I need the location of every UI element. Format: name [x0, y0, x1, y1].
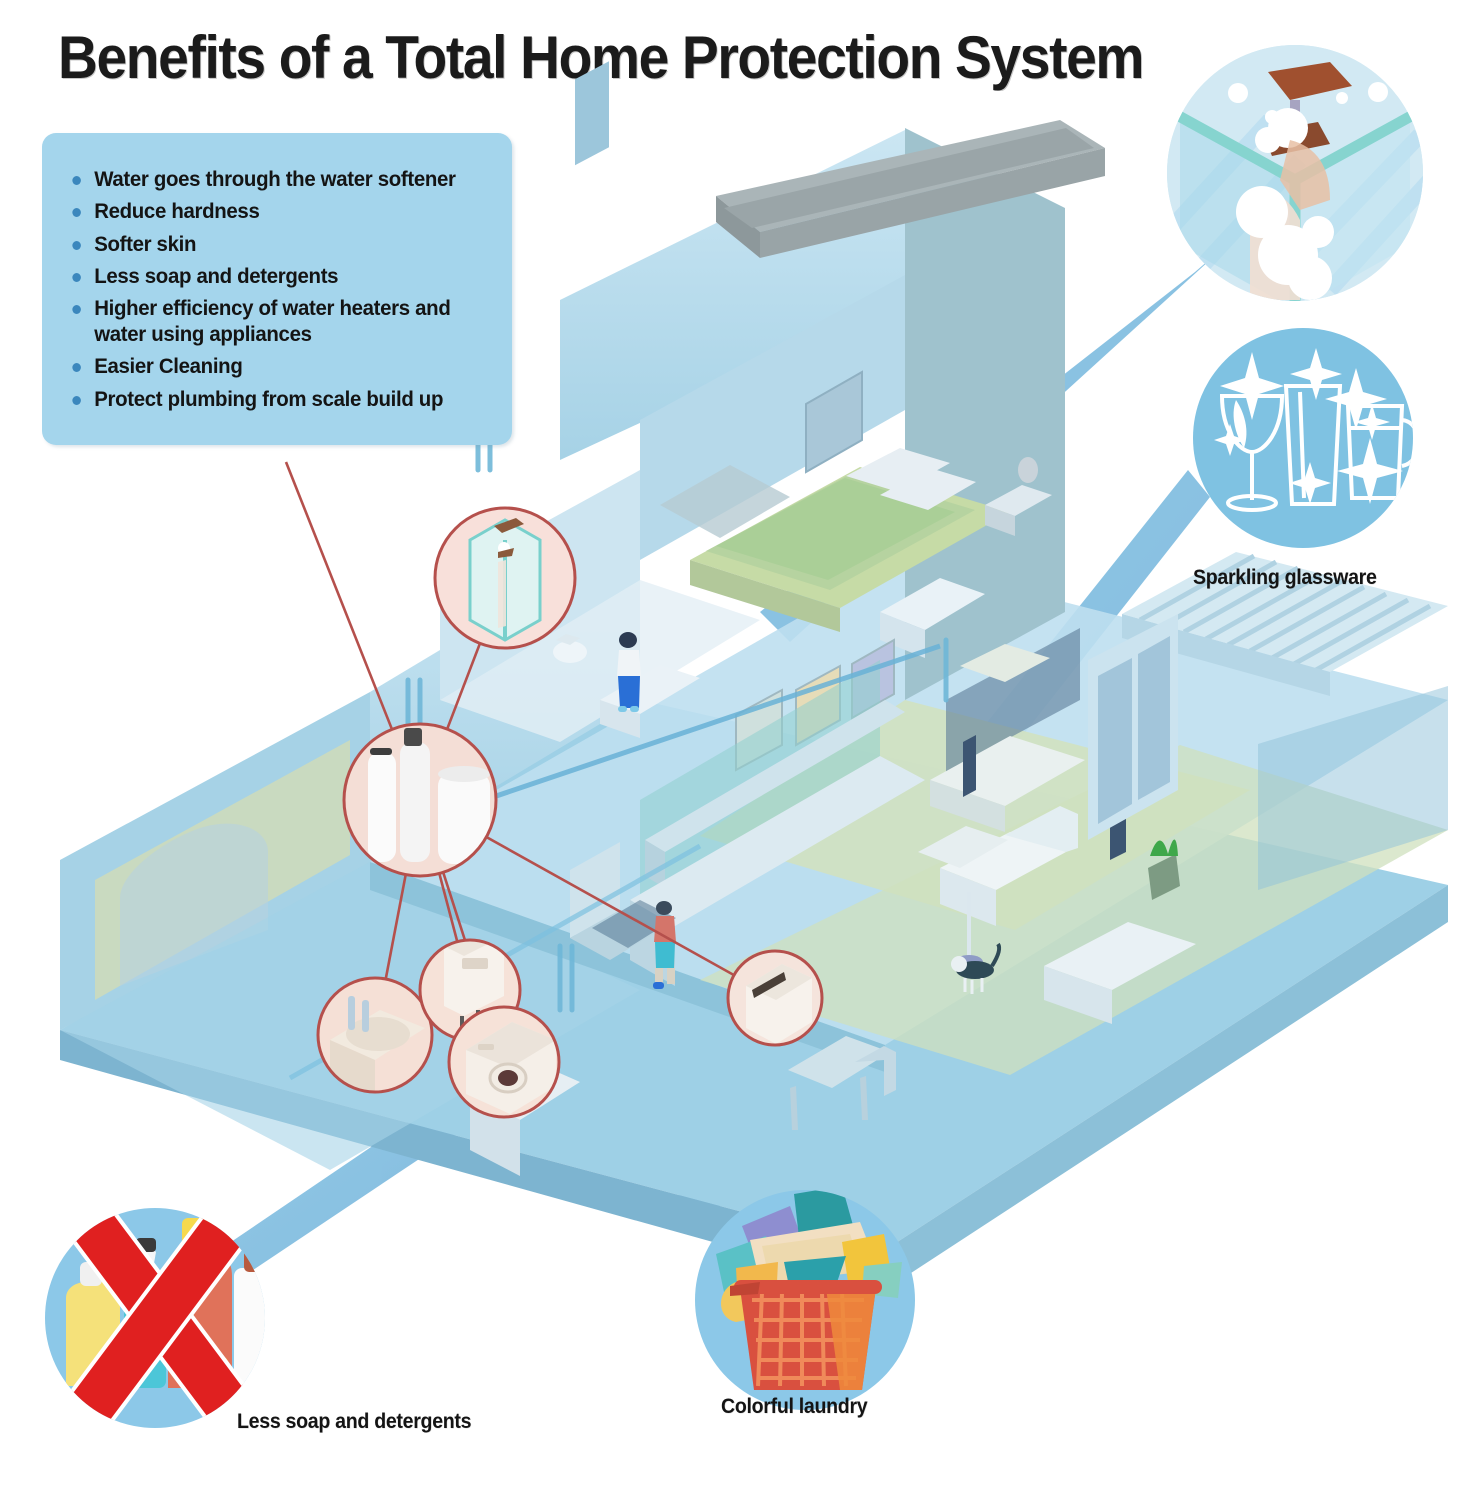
list-item: Water goes through the water softener: [60, 167, 470, 192]
callout-shower-inline[interactable]: [435, 508, 575, 648]
heater-panel: [462, 958, 488, 969]
list-item: Easier Cleaning: [60, 354, 470, 379]
person-kitchen-shoe: [653, 982, 664, 989]
person-bedroom: [1018, 457, 1038, 483]
list-item: Reduce hardness: [60, 199, 470, 224]
slider-pane-2: [1138, 636, 1170, 800]
bottle-green-pump: [292, 1242, 312, 1272]
list-item: Less soap and detergents: [60, 264, 470, 289]
person-kitchen-head: [656, 901, 672, 915]
callout-washing-machine[interactable]: [449, 1007, 559, 1117]
person-pants: [618, 676, 640, 708]
washer-porthole: [498, 1070, 518, 1086]
foam-6: [1288, 256, 1332, 300]
person-kitchen-leg-l: [655, 968, 663, 984]
foam-2: [1255, 127, 1281, 153]
bubble-3: [1368, 82, 1388, 102]
person-kitchen-leg-r: [667, 968, 675, 984]
person-shirt: [617, 650, 641, 676]
washer-dial: [478, 1044, 494, 1050]
person-hair: [619, 632, 637, 648]
softener-tank-1: [368, 752, 396, 862]
softener-valve: [404, 728, 422, 746]
softener-control: [370, 748, 392, 755]
caption-sparkling-glassware: Sparkling glassware: [1193, 566, 1377, 590]
bubble-1: [1228, 83, 1248, 103]
speaker-left: [963, 735, 976, 797]
tub-faucet-1: [348, 996, 355, 1030]
bubble-4: [1336, 92, 1348, 104]
bubble-2: [1265, 110, 1279, 124]
bedroom-window: [575, 61, 609, 165]
callout-dishwasher[interactable]: [728, 951, 822, 1045]
foam-5: [1302, 216, 1334, 248]
slider-pane-1: [1098, 658, 1132, 824]
list-item: Protect plumbing from scale build up: [60, 387, 470, 412]
list-item: Higher efficiency of water heaters and w…: [60, 296, 470, 347]
tub-basin: [346, 1017, 410, 1051]
person-kitchen-shorts: [655, 942, 675, 968]
benefits-panel: Water goes through the water softener Re…: [42, 133, 512, 445]
benefits-list: Water goes through the water softener Re…: [60, 167, 492, 412]
callout-shower-magnified[interactable]: [1160, 45, 1430, 320]
bottle-white: [234, 1268, 278, 1388]
list-item: Softer skin: [60, 232, 470, 257]
caption-less-soap: Less soap and detergents: [237, 1410, 471, 1434]
cat-head: [951, 956, 967, 972]
caption-colorful-laundry: Colorful laundry: [721, 1395, 867, 1419]
floor-lamp-pole: [967, 892, 971, 960]
bottle-green: [278, 1270, 326, 1388]
callout-glassware[interactable]: [1193, 328, 1419, 548]
softener-tank-2: [400, 742, 430, 862]
infographic-canvas: Benefits of a Total Home Protection Syst…: [0, 0, 1478, 1500]
person-shoe-l: [618, 706, 627, 712]
callout-water-softener[interactable]: [344, 724, 496, 876]
person-shoe-r: [630, 706, 639, 712]
tub-faucet-2: [362, 1000, 369, 1032]
brine-tank-lid: [438, 766, 490, 782]
shower-person: [498, 560, 506, 628]
